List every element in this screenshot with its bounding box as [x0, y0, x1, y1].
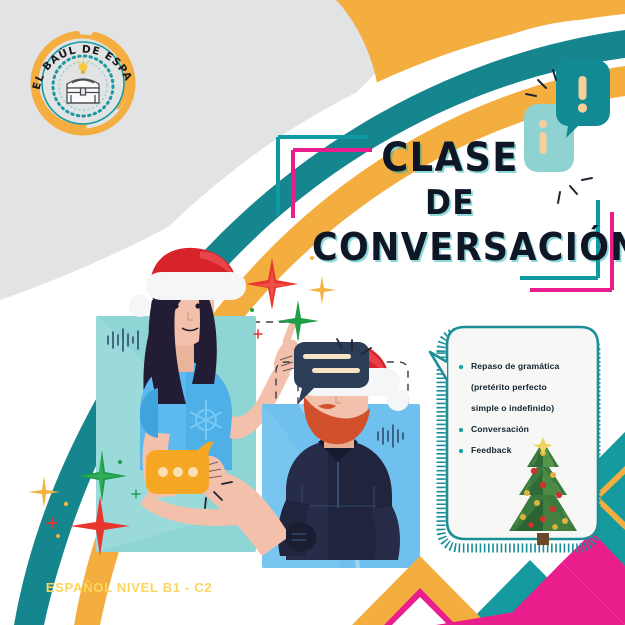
bullet-dot [459, 428, 463, 432]
bullet-dot [459, 365, 463, 369]
banner-shape [18, 567, 625, 625]
christmas-tree-icon [497, 437, 589, 547]
list-item-label: (pretérito perfecto [471, 382, 547, 392]
list-item-label: simple o indefinido) [471, 403, 554, 413]
list-item: (pretérito perfecto [457, 377, 582, 398]
list-item-label: Repaso de gramática [471, 361, 559, 371]
list-item: Repaso de gramática [457, 356, 582, 377]
list-item: simple o indefinido) [457, 398, 582, 419]
tree-star [533, 437, 553, 455]
level-banner: ESPAÑOL NIVEL B1 - C2 [18, 567, 240, 607]
bullet-dot [459, 449, 463, 453]
poster-canvas: EL BAÚL DE ESPAÑOL [0, 0, 625, 625]
level-banner-label: ESPAÑOL NIVEL B1 - C2 [46, 580, 213, 595]
list-item-label: Conversación [471, 424, 529, 434]
